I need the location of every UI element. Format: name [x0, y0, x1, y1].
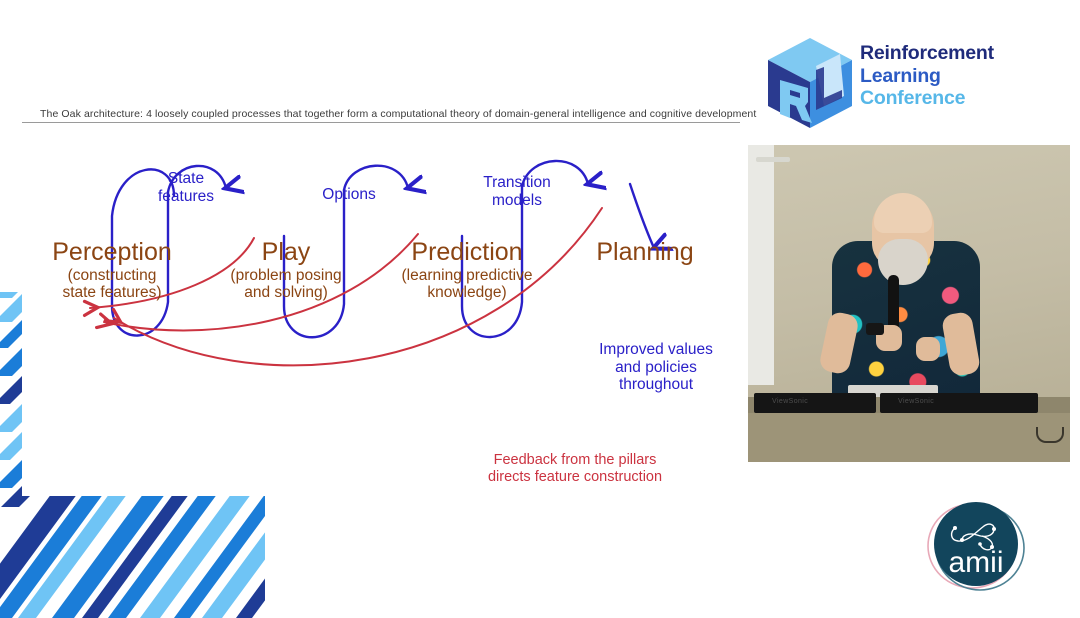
pillar-prediction-sub: (learning predictive knowledge): [362, 267, 572, 302]
pillar-planning: Planning: [562, 238, 728, 266]
pillar-play-sub: (problem posing and solving): [198, 267, 374, 302]
video-whiteboard-rail: [756, 157, 790, 162]
speaker-right-hand: [916, 337, 940, 361]
feedback-label: Feedback from the pillars directs featur…: [460, 452, 690, 486]
podium-monitor-left: ViewSonic: [754, 393, 876, 413]
pillar-prediction-name: Prediction: [362, 238, 572, 266]
speaker-video-tile[interactable]: ViewSonic ViewSonic: [748, 145, 1070, 462]
slide-title: The Oak architecture: 4 loosely coupled …: [40, 108, 724, 120]
podium-monitor-right: ViewSonic: [880, 393, 1038, 413]
slide-title-divider: [22, 122, 740, 123]
pillar-perception-sub: (constructing state features): [24, 267, 200, 302]
video-whiteboard: [748, 145, 774, 385]
arrow-label-transition-models: Transition models: [462, 174, 572, 209]
rlc-logo-line-1: Reinforcement: [860, 42, 1000, 65]
rlc-logo-line-3: Conference: [860, 87, 1000, 110]
rlc-logo-line-2: Learning: [860, 65, 1000, 88]
podium-front: [748, 413, 1070, 462]
pillar-prediction: Prediction (learning predictive knowledg…: [362, 238, 572, 302]
presentation-slide: The Oak architecture: 4 loosely coupled …: [22, 104, 740, 496]
amii-wordmark: amii: [948, 546, 1003, 579]
arrow-label-state-features: State features: [134, 170, 238, 205]
diagram-arrows: [22, 126, 740, 496]
rl-cube-mark: [764, 36, 856, 132]
amii-logo: amii: [922, 492, 1030, 600]
pillar-perception-name: Perception: [24, 238, 200, 266]
monitor-brand-label-left: ViewSonic: [772, 398, 808, 405]
pillar-play: Play (problem posing and solving): [198, 238, 374, 302]
arrow-label-improved-values: Improved values and policies throughout: [580, 341, 732, 394]
podium-cable: [1036, 427, 1064, 443]
monitor-brand-label-right: ViewSonic: [898, 398, 934, 405]
arrow-label-options: Options: [300, 186, 398, 204]
pillar-planning-name: Planning: [562, 238, 728, 266]
speaker-wristwatch: [866, 323, 884, 335]
slide-stage: Reinforcement Learning Conference The Oa…: [0, 0, 1080, 608]
reinforcement-learning-conference-logo: Reinforcement Learning Conference: [764, 36, 996, 132]
pillar-play-name: Play: [198, 238, 374, 266]
oak-architecture-diagram: Perception (constructing state features)…: [22, 126, 740, 496]
pillar-perception: Perception (constructing state features): [24, 238, 200, 302]
